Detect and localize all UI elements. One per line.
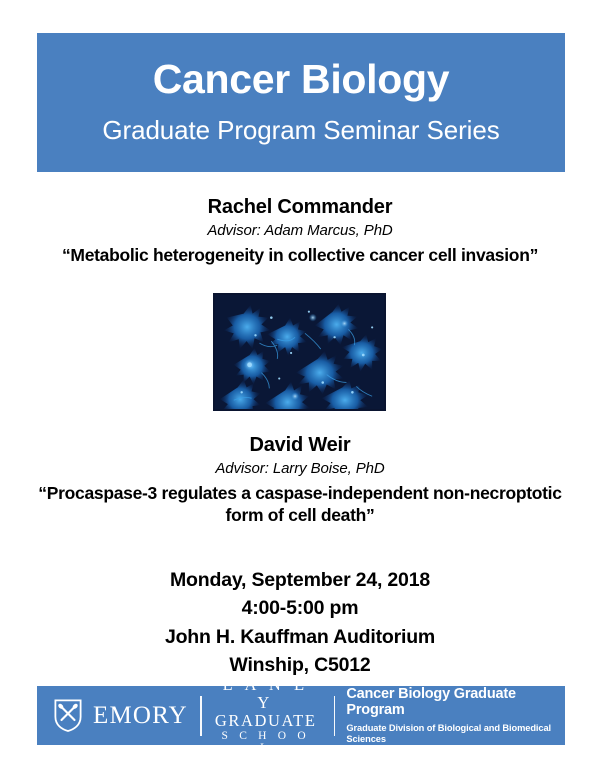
cancer-cells-image <box>213 293 386 411</box>
program-title: Cancer Biology Graduate Program <box>346 686 565 719</box>
speaker-block-1: Rachel Commander Advisor: Adam Marcus, P… <box>0 196 600 266</box>
emory-wordmark: EMORY <box>93 703 188 728</box>
header-banner: Cancer Biology Graduate Program Seminar … <box>37 33 565 172</box>
poster-subtitle: Graduate Program Seminar Series <box>37 100 565 143</box>
speaker-advisor: Advisor: Adam Marcus, PhD <box>0 222 600 240</box>
speaker-name: Rachel Commander <box>0 196 600 219</box>
speaker-talk-title: “Metabolic heterogeneity in collective c… <box>0 244 600 266</box>
microscopy-figure <box>213 293 386 411</box>
seminar-poster: Cancer Biology Graduate Program Seminar … <box>0 0 600 779</box>
footer-bar: EMORY L A N E Y GRADUATE S C H O O L Can… <box>37 686 565 745</box>
laney-line-3: S C H O O L <box>215 730 317 755</box>
event-venue: John H. Kauffman Auditorium <box>0 623 600 651</box>
emory-logo: EMORY L A N E Y GRADUATE S C H O O L <box>37 676 317 754</box>
footer-program-block: Cancer Biology Graduate Program Graduate… <box>346 686 565 746</box>
logo-divider <box>200 696 202 736</box>
poster-title: Cancer Biology <box>37 33 565 100</box>
laney-line-1: L A N E Y <box>215 676 317 712</box>
emory-shield-icon <box>54 699 82 732</box>
speaker-advisor: Advisor: Larry Boise, PhD <box>0 460 600 478</box>
speaker-name: David Weir <box>0 434 600 457</box>
program-subtitle: Graduate Division of Biological and Biom… <box>346 723 565 745</box>
footer-divider <box>334 696 336 736</box>
speaker-talk-title: “Procaspase-3 regulates a caspase-indepe… <box>0 482 600 527</box>
laney-line-2: GRADUATE <box>215 712 317 730</box>
event-time: 4:00-5:00 pm <box>0 594 600 622</box>
event-details: Monday, September 24, 2018 4:00-5:00 pm … <box>0 566 600 679</box>
speaker-block-2: David Weir Advisor: Larry Boise, PhD “Pr… <box>0 434 600 527</box>
event-date: Monday, September 24, 2018 <box>0 566 600 594</box>
laney-graduate-school-wordmark: L A N E Y GRADUATE S C H O O L <box>215 676 317 754</box>
